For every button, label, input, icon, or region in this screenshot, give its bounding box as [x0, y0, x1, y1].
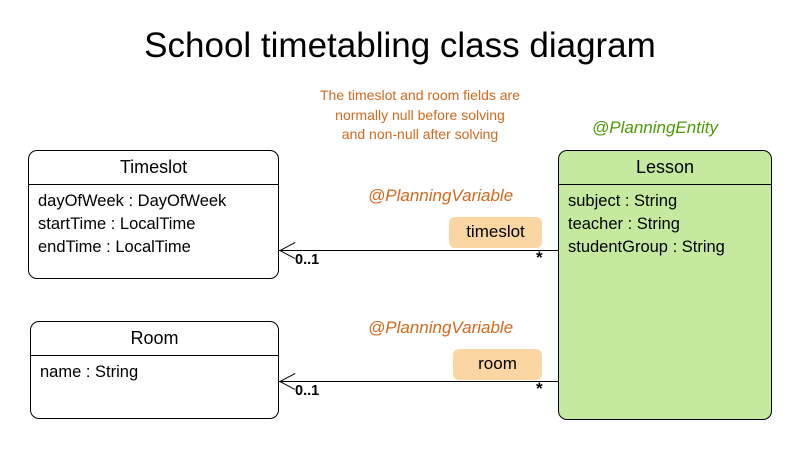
class-box-timeslot[interactable]: Timeslot dayOfWeek : DayOfWeek startTime…: [28, 150, 279, 279]
multiplicity-timeslot-target: *: [536, 249, 543, 266]
class-name-lesson: Lesson: [559, 151, 771, 185]
multiplicity-timeslot-source: 0..1: [295, 252, 319, 269]
multiplicity-room-target: *: [536, 380, 543, 397]
arrowhead-room-icon: [280, 381, 295, 396]
attribute-row: startTime : LocalTime: [38, 213, 278, 236]
attribute-row: endTime : LocalTime: [38, 236, 278, 259]
class-name-room: Room: [31, 322, 278, 356]
class-box-lesson[interactable]: Lesson subject : String teacher : String…: [558, 150, 772, 420]
attribute-row: subject : String: [568, 190, 771, 213]
attribute-row: dayOfWeek : DayOfWeek: [38, 190, 278, 213]
field-badge-timeslot: timeslot: [449, 217, 542, 248]
attribute-row: studentGroup : String: [568, 236, 771, 259]
class-attributes-lesson: subject : String teacher : String studen…: [559, 185, 771, 259]
attribute-row: name : String: [40, 361, 278, 384]
solving-note: The timeslot and room fields are normall…: [290, 86, 550, 145]
association-line-room: [279, 381, 558, 382]
solving-note-line-2: normally null before solving: [290, 106, 550, 126]
page-title: School timetabling class diagram: [0, 26, 800, 66]
arrowhead-timeslot-icon: [280, 250, 295, 265]
attribute-row: teacher : String: [568, 213, 771, 236]
multiplicity-room-source: 0..1: [295, 383, 319, 400]
class-name-timeslot: Timeslot: [29, 151, 278, 185]
field-badge-room: room: [453, 349, 542, 380]
association-line-timeslot: [279, 250, 558, 251]
annotation-planning-entity: @PlanningEntity: [592, 118, 718, 138]
solving-note-line-1: The timeslot and room fields are: [290, 86, 550, 106]
class-attributes-timeslot: dayOfWeek : DayOfWeek startTime : LocalT…: [29, 185, 278, 259]
solving-note-line-3: and non-null after solving: [290, 125, 550, 145]
annotation-planning-variable-timeslot: @PlanningVariable: [368, 186, 513, 206]
annotation-planning-variable-room: @PlanningVariable: [368, 318, 513, 338]
class-box-room[interactable]: Room name : String: [30, 321, 279, 419]
class-attributes-room: name : String: [31, 356, 278, 384]
class-diagram-canvas: School timetabling class diagram The tim…: [0, 0, 800, 450]
